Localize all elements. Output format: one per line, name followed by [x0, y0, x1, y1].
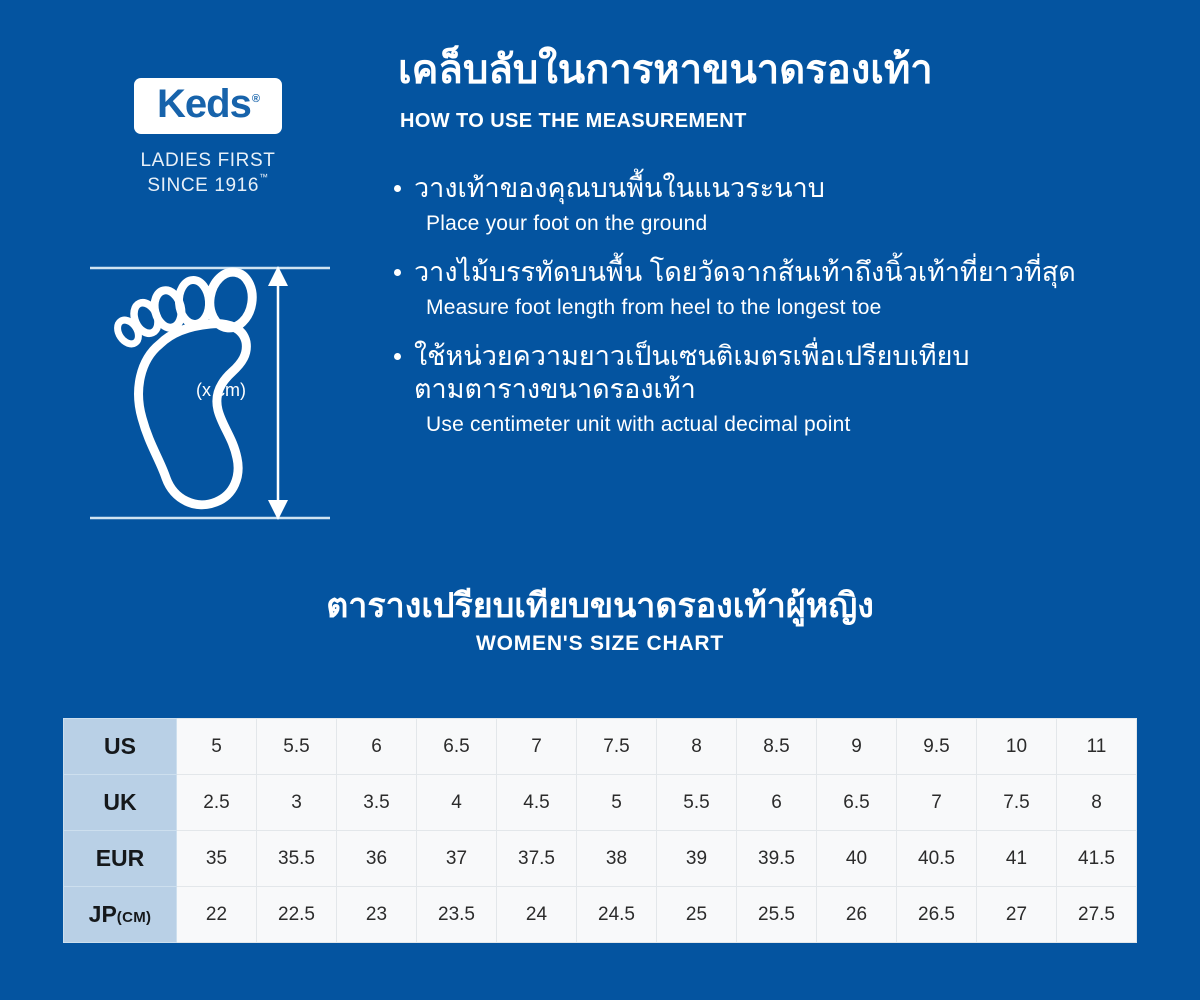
brand-logo-block: Keds® LADIES FIRST SINCE 1916™	[108, 78, 308, 198]
table-cell: 24	[497, 887, 577, 943]
step-english-text: Use centimeter unit with actual decimal …	[392, 413, 1132, 437]
table-cell: 10	[977, 719, 1057, 775]
table-cell: 7.5	[977, 775, 1057, 831]
step-thai-label: วางเท้าของคุณบนพื้นในแนวระนาบ	[414, 173, 825, 203]
table-row: EUR 35 35.5 36 37 37.5 38 39 39.5 40 40.…	[64, 831, 1137, 887]
size-chart-table-wrapper: US 5 5.5 6 6.5 7 7.5 8 8.5 9 9.5 10 11 U…	[63, 718, 1137, 943]
table-cell: 7	[497, 719, 577, 775]
row-label-us: US	[64, 719, 177, 775]
table-cell: 8	[1057, 775, 1137, 831]
page-title-thai: เคล็บลับในการหาขนาดรองเท้า	[398, 48, 933, 92]
table-cell: 37.5	[497, 831, 577, 887]
table-cell: 25.5	[737, 887, 817, 943]
step-thai-label: ใช้หน่วยความยาวเป็นเซนติเมตรเพื่อเปรียบเ…	[414, 341, 970, 371]
instruction-step: ใช้หน่วยความยาวเป็นเซนติเมตรเพื่อเปรียบเ…	[392, 340, 1132, 438]
keds-wordmark: Keds	[157, 84, 251, 124]
table-cell: 23	[337, 887, 417, 943]
table-cell: 5.5	[657, 775, 737, 831]
row-label-text: EUR	[96, 845, 145, 871]
table-cell: 27	[977, 887, 1057, 943]
table-cell: 3	[257, 775, 337, 831]
size-chart-table: US 5 5.5 6 6.5 7 7.5 8 8.5 9 9.5 10 11 U…	[63, 718, 1137, 943]
foot-sole-outline	[139, 324, 247, 505]
keds-logo-box: Keds®	[134, 78, 282, 134]
measurement-label: (x cm)	[196, 380, 246, 401]
table-row: US 5 5.5 6 6.5 7 7.5 8 8.5 9 9.5 10 11	[64, 719, 1137, 775]
instruction-steps-list: วางเท้าของคุณบนพื้นในแนวระนาบ Place your…	[392, 172, 1132, 457]
table-cell: 35	[177, 831, 257, 887]
table-cell: 22	[177, 887, 257, 943]
table-cell: 7	[897, 775, 977, 831]
row-label-text: US	[104, 733, 136, 759]
table-cell: 26	[817, 887, 897, 943]
table-cell: 8	[657, 719, 737, 775]
table-cell: 22.5	[257, 887, 337, 943]
page-subtitle-english: HOW TO USE THE MEASUREMENT	[400, 110, 747, 133]
step-thai-text: ใช้หน่วยความยาวเป็นเซนติเมตรเพื่อเปรียบเ…	[392, 340, 1132, 374]
table-cell: 25	[657, 887, 737, 943]
step-thai-label: วางไม้บรรทัดบนพื้น โดยวัดจากส้นเท้าถึงนิ…	[414, 257, 1076, 287]
step-thai-label-line2: ตามตารางขนาดรองเท้า	[392, 373, 1132, 407]
table-cell: 39	[657, 831, 737, 887]
table-cell: 6	[337, 719, 417, 775]
table-cell: 39.5	[737, 831, 817, 887]
table-cell: 6	[737, 775, 817, 831]
tagline-line-2: SINCE 1916™	[108, 173, 308, 198]
table-cell: 2.5	[177, 775, 257, 831]
row-label-jp: JP(CM)	[64, 887, 177, 943]
step-english-text: Place your foot on the ground	[392, 212, 1132, 236]
table-cell: 35.5	[257, 831, 337, 887]
table-cell: 38	[577, 831, 657, 887]
table-cell: 41	[977, 831, 1057, 887]
row-label-unit: (CM)	[117, 909, 152, 926]
tagline-line-2-text: SINCE 1916	[147, 175, 259, 196]
size-chart-body: US 5 5.5 6 6.5 7 7.5 8 8.5 9 9.5 10 11 U…	[64, 719, 1137, 943]
table-cell: 36	[337, 831, 417, 887]
tagline-line-1: LADIES FIRST	[108, 148, 308, 173]
brand-tagline: LADIES FIRST SINCE 1916™	[108, 148, 308, 198]
row-label-text: UK	[103, 789, 136, 815]
table-cell: 37	[417, 831, 497, 887]
table-row: JP(CM) 22 22.5 23 23.5 24 24.5 25 25.5 2…	[64, 887, 1137, 943]
size-chart-title-thai: ตารางเปรียบเทียบขนาดรองเท้าผู้หญิง	[0, 578, 1200, 632]
row-label-eur: EUR	[64, 831, 177, 887]
row-label-text: JP	[89, 901, 117, 927]
table-cell: 7.5	[577, 719, 657, 775]
table-row: UK 2.5 3 3.5 4 4.5 5 5.5 6 6.5 7 7.5 8	[64, 775, 1137, 831]
table-cell: 40.5	[897, 831, 977, 887]
table-cell: 3.5	[337, 775, 417, 831]
table-cell: 5	[577, 775, 657, 831]
size-chart-title-english: WOMEN'S SIZE CHART	[0, 632, 1200, 656]
table-cell: 9.5	[897, 719, 977, 775]
table-cell: 4.5	[497, 775, 577, 831]
bullet-icon	[394, 185, 401, 192]
table-cell: 24.5	[577, 887, 657, 943]
table-cell: 6.5	[417, 719, 497, 775]
instruction-step: วางไม้บรรทัดบนพื้น โดยวัดจากส้นเท้าถึงนิ…	[392, 256, 1132, 320]
table-cell: 27.5	[1057, 887, 1137, 943]
registered-trademark-icon: ®	[252, 93, 260, 105]
table-cell: 6.5	[817, 775, 897, 831]
trademark-icon: ™	[259, 172, 269, 182]
step-thai-text: วางเท้าของคุณบนพื้นในแนวระนาบ	[392, 172, 1132, 206]
table-cell: 8.5	[737, 719, 817, 775]
table-cell: 41.5	[1057, 831, 1137, 887]
step-thai-text: วางไม้บรรทัดบนพื้น โดยวัดจากส้นเท้าถึงนิ…	[392, 256, 1132, 290]
bullet-icon	[394, 269, 401, 276]
table-cell: 11	[1057, 719, 1137, 775]
row-label-uk: UK	[64, 775, 177, 831]
table-cell: 40	[817, 831, 897, 887]
step-english-text: Measure foot length from heel to the lon…	[392, 296, 1132, 320]
instruction-step: วางเท้าของคุณบนพื้นในแนวระนาบ Place your…	[392, 172, 1132, 236]
bullet-icon	[394, 353, 401, 360]
table-cell: 26.5	[897, 887, 977, 943]
table-cell: 4	[417, 775, 497, 831]
table-cell: 9	[817, 719, 897, 775]
table-cell: 23.5	[417, 887, 497, 943]
table-cell: 5.5	[257, 719, 337, 775]
table-cell: 5	[177, 719, 257, 775]
